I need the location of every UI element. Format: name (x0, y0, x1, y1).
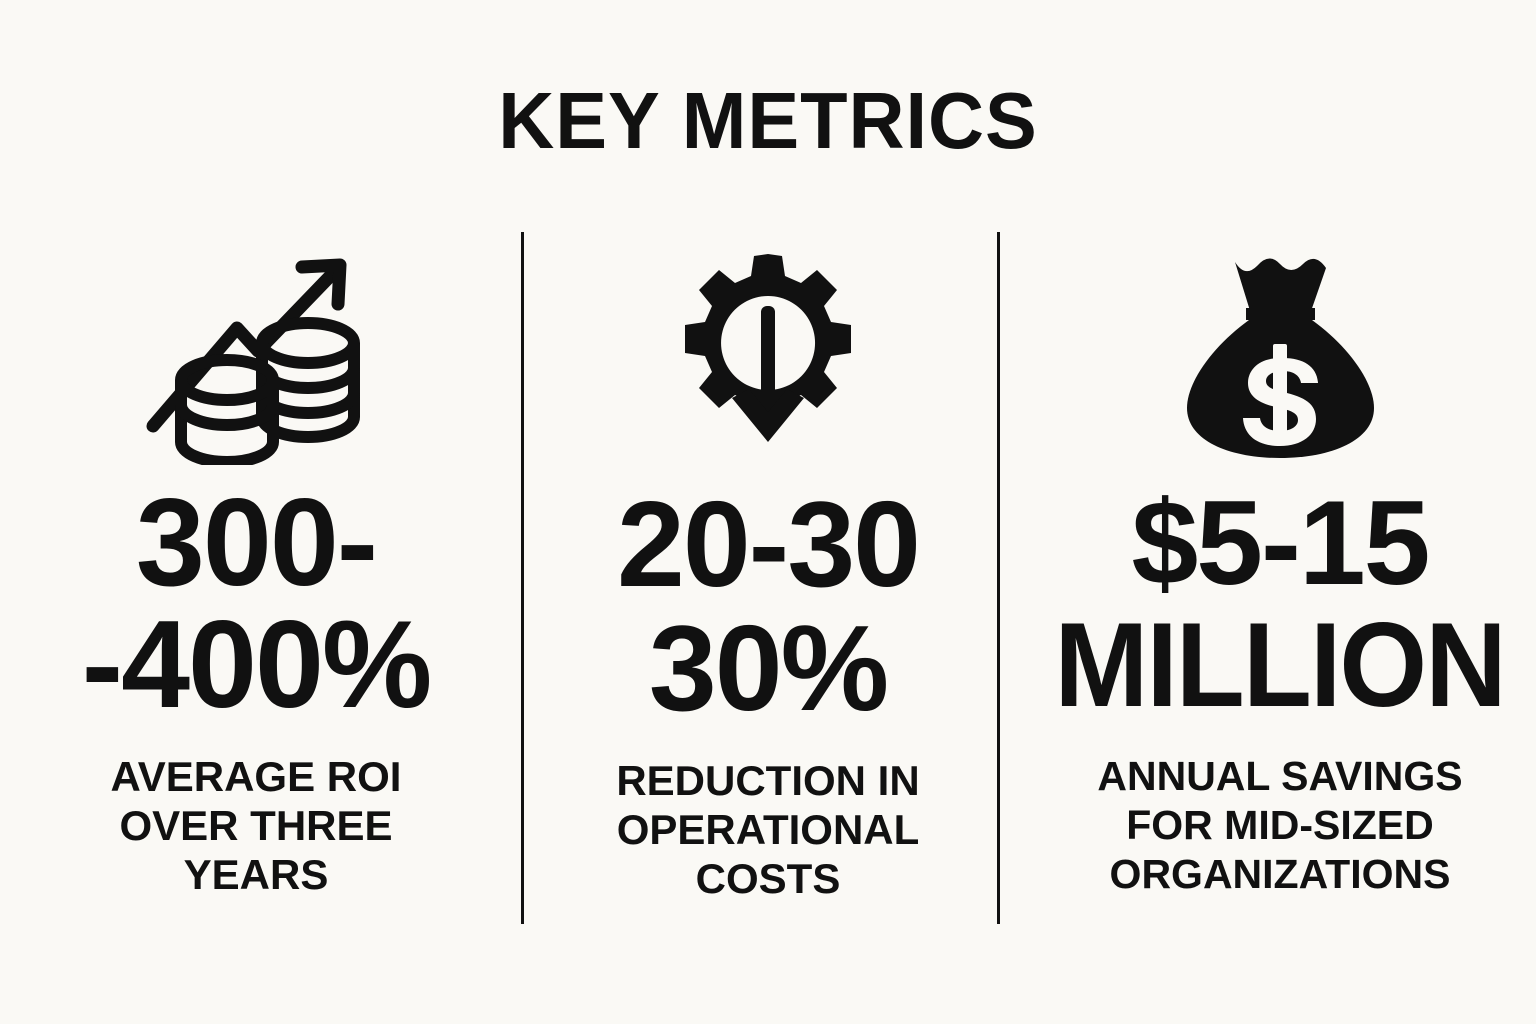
metric-value-cost-reduction: 20-30 30% (617, 482, 919, 730)
money-bag-icon (1183, 232, 1378, 482)
metric-caption-line: OPERATIONAL (616, 805, 919, 854)
metric-caption-line: ORGANIZATIONS (1097, 850, 1462, 899)
metrics-row: 300- -400% AVERAGE ROI OVER THREE YEARS (0, 232, 1536, 924)
metric-caption-line: AVERAGE ROI (111, 752, 402, 801)
gear-down-arrow-icon (668, 232, 868, 482)
metric-caption-cost-reduction: REDUCTION IN OPERATIONAL COSTS (616, 756, 919, 903)
metric-caption-line: OVER THREE (111, 801, 402, 850)
metric-value-savings: $5-15 MILLION (1040, 482, 1519, 726)
key-metrics-infographic: KEY METRICS (0, 0, 1536, 1024)
metric-caption-line: ANNUAL SAVINGS (1097, 752, 1462, 801)
metric-value-line: 20-30 (617, 482, 919, 606)
page-title: KEY METRICS (23, 78, 1513, 164)
metric-card-savings: $5-15 MILLION ANNUAL SAVINGS FOR MID-SIZ… (1024, 232, 1536, 924)
metric-caption-line: REDUCTION IN (616, 756, 919, 805)
metric-value-line: MILLION (1055, 604, 1505, 726)
metric-value-line: 30% (617, 606, 919, 730)
metric-caption-line: COSTS (616, 854, 919, 903)
metric-caption-line: FOR MID-SIZED (1097, 801, 1462, 850)
metric-value-roi: 300- -400% (82, 482, 430, 726)
metric-value-line: -400% (82, 604, 430, 726)
metric-caption-line: YEARS (111, 850, 402, 899)
metric-value-line: 300- (82, 482, 430, 604)
growth-arrow-coins-icon (139, 232, 374, 482)
metric-card-roi: 300- -400% AVERAGE ROI OVER THREE YEARS (0, 232, 512, 924)
metric-value-line: $5-15 (1040, 482, 1519, 604)
metric-caption-roi: AVERAGE ROI OVER THREE YEARS (111, 752, 402, 899)
metric-card-cost-reduction: 20-30 30% REDUCTION IN OPERATIONAL COSTS (512, 232, 1024, 924)
metric-caption-savings: ANNUAL SAVINGS FOR MID-SIZED ORGANIZATIO… (1097, 752, 1462, 899)
